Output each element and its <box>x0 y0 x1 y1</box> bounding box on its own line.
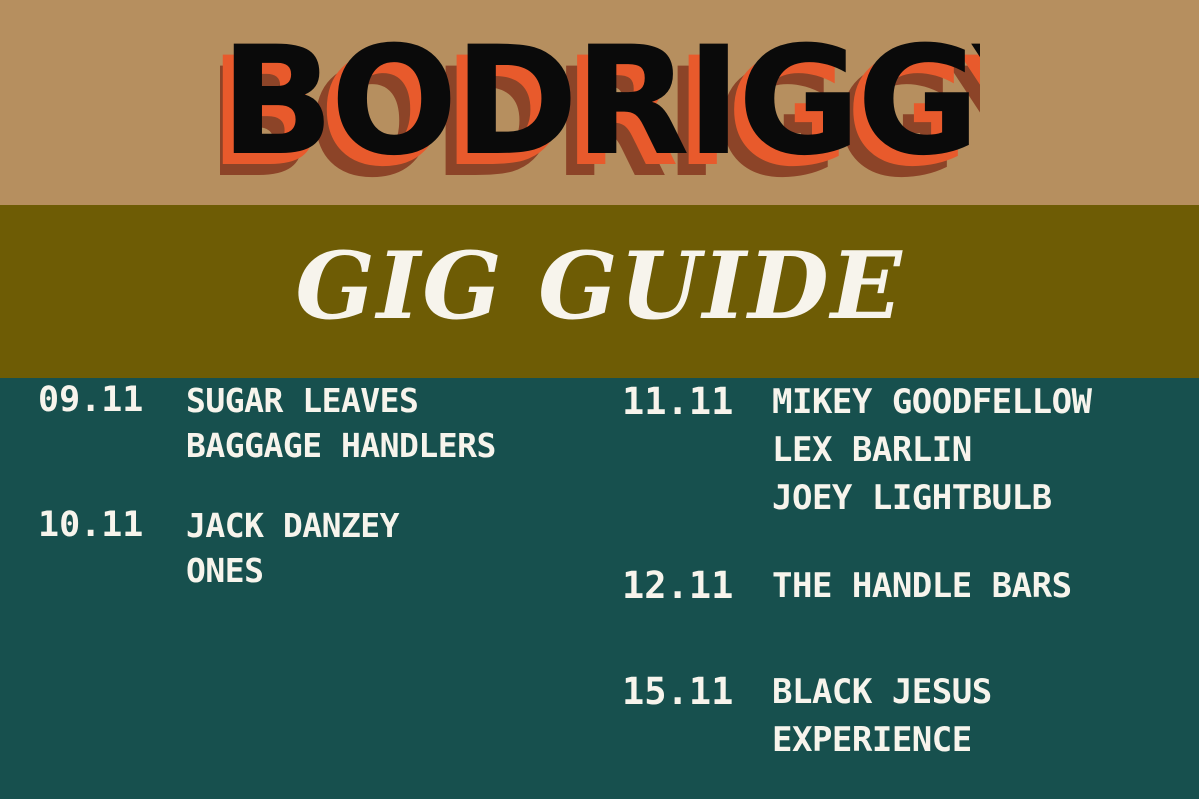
page-title: GIG GUIDE <box>0 226 1199 346</box>
gig-entry[interactable]: 15.11 BLACK JESUS EXPERIENCE <box>622 668 1182 764</box>
gig-act: BAGGAGE HANDLERS <box>186 423 598 468</box>
gig-date: 10.11 <box>38 503 186 548</box>
gig-act: MIKEY GOODFELLOW <box>772 378 1182 426</box>
gig-acts: MIKEY GOODFELLOW LEX BARLIN JOEY LIGHTBU… <box>772 378 1182 522</box>
gig-entry[interactable]: 11.11 MIKEY GOODFELLOW LEX BARLIN JOEY L… <box>622 378 1182 522</box>
gig-guide-poster: BODRIGGY BODRIGGY GIG GUIDE 09.11 <box>0 0 1199 799</box>
gig-act: SUGAR LEAVES <box>186 378 598 423</box>
gig-act: JOEY LIGHTBULB <box>772 474 1182 522</box>
gig-act: EXPERIENCE <box>772 716 1182 764</box>
gig-acts: THE HANDLE BARS <box>772 562 1182 610</box>
gig-act: ONES <box>186 548 598 593</box>
gig-date: 09.11 <box>38 378 186 423</box>
gig-date: 15.11 <box>622 668 772 716</box>
gig-listings: 09.11 SUGAR LEAVES BAGGAGE HANDLERS 10.1… <box>0 378 1199 799</box>
gig-act: LEX BARLIN <box>772 426 1182 474</box>
gig-column-left: 09.11 SUGAR LEAVES BAGGAGE HANDLERS 10.1… <box>38 378 598 628</box>
gig-column-right: 11.11 MIKEY GOODFELLOW LEX BARLIN JOEY L… <box>622 378 1182 799</box>
gig-date: 11.11 <box>622 378 772 426</box>
gig-act: JACK DANZEY <box>186 503 598 548</box>
gig-acts: SUGAR LEAVES BAGGAGE HANDLERS <box>186 378 598 468</box>
gig-act: THE HANDLE BARS <box>772 562 1182 610</box>
gig-act: BLACK JESUS <box>772 668 1182 716</box>
gig-entry[interactable]: 10.11 JACK DANZEY ONES <box>38 503 598 593</box>
gig-date: 12.11 <box>622 562 772 610</box>
header-band-tan <box>0 0 1199 205</box>
gig-entry[interactable]: 12.11 THE HANDLE BARS <box>622 562 1182 610</box>
gig-acts: JACK DANZEY ONES <box>186 503 598 593</box>
gig-entry[interactable]: 09.11 SUGAR LEAVES BAGGAGE HANDLERS <box>38 378 598 468</box>
gig-acts: BLACK JESUS EXPERIENCE <box>772 668 1182 764</box>
